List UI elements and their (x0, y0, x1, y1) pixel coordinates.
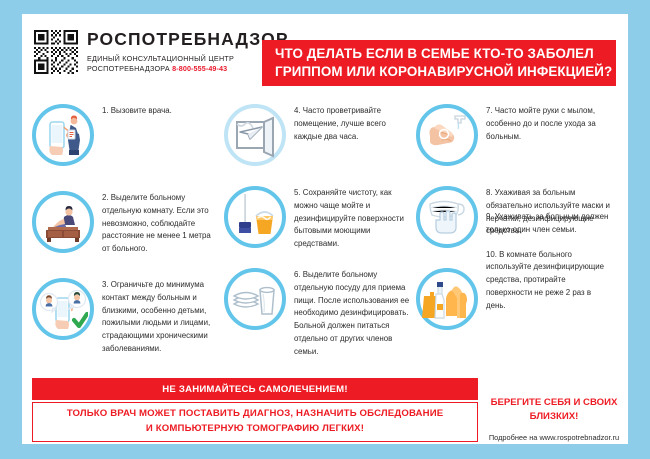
qr-code-icon (34, 30, 78, 74)
advice-text-9: 9. Ухаживать за больным должен только од… (486, 211, 612, 237)
advice-item-7: 7. Часто мойте руки с мылом, особенно до… (416, 104, 616, 166)
advice-text-10: 10. В комнате больного используйте дезин… (486, 249, 612, 313)
poster-card: РОСПОТРЕБНАДЗОР ЕДИНЫЙ КОНСУЛЬТАЦИОННЫЙ … (22, 14, 628, 444)
column-2: 4. Часто проветривайте помещение, лучше … (220, 96, 416, 366)
advice-text-6: 6. Выделите больному отдельную посуду дл… (294, 268, 412, 359)
advice-text-9-10: 9. Ухаживать за больным должен только од… (486, 268, 612, 330)
poster-header: РОСПОТРЕБНАДЗОР ЕДИНЫЙ КОНСУЛЬТАЦИОННЫЙ … (22, 14, 628, 88)
open-window-airflow-icon (224, 104, 286, 166)
brand-title: РОСПОТРЕБНАДЗОР (87, 31, 289, 49)
advice-columns: 1. Вызовите врача. (22, 96, 628, 366)
hotline-phone: 8-800-555-49-43 (172, 64, 227, 73)
consultation-center-label: РОСПОТРЕБНАДЗОРА (87, 64, 170, 73)
mask-and-gloves-icon (416, 186, 478, 248)
care-line-2: БЛИЗКИХ! (488, 410, 620, 424)
care-block: БЕРЕГИТЕ СЕБЯ И СВОИХ БЛИЗКИХ! Подробнее… (488, 396, 620, 442)
care-line-1: БЕРЕГИТЕ СЕБЯ И СВОИХ (488, 396, 620, 410)
advice-item-2: 2. Выделите больному отдельную комнату. … (32, 191, 220, 256)
website-info: Подробнее на www.rospotrebnadzor.ru (488, 433, 620, 442)
doctor-diagnosis-line-1: ТОЛЬКО ВРАЧ МОЖЕТ ПОСТАВИТЬ ДИАГНОЗ, НАЗ… (67, 407, 444, 422)
advice-text-1: 1. Вызовите врача. (102, 104, 220, 166)
consultation-center-line2: РОСПОТРЕБНАДЗОРА 8-800-555-49-43 (87, 64, 289, 74)
banner-line-1: ЧТО ДЕЛАТЬ ЕСЛИ В СЕМЬЕ КТО-ТО ЗАБОЛЕЛ (275, 45, 616, 63)
logo-block: РОСПОТРЕБНАДЗОР ЕДИНЫЙ КОНСУЛЬТАЦИОННЫЙ … (34, 30, 289, 74)
advice-item-9-10: 9. Ухаживать за больным должен только од… (416, 268, 616, 330)
advice-text-5: 5. Сохраняйте чистоту, как можно чаще мо… (294, 186, 412, 251)
logo-text-block: РОСПОТРЕБНАДЗОР ЕДИНЫЙ КОНСУЛЬТАЦИОННЫЙ … (87, 30, 289, 74)
advice-text-7: 7. Часто мойте руки с мылом, особенно до… (486, 104, 612, 166)
separate-dishes-icon (224, 268, 286, 330)
consultation-center-line1: ЕДИНЫЙ КОНСУЛЬТАЦИОННЫЙ ЦЕНТР (87, 54, 289, 64)
advice-item-1: 1. Вызовите врача. (32, 104, 220, 166)
doctor-diagnosis-box: ТОЛЬКО ВРАЧ МОЖЕТ ПОСТАВИТЬ ДИАГНОЗ, НАЗ… (32, 402, 478, 442)
title-banner: ЧТО ДЕЛАТЬ ЕСЛИ В СЕМЬЕ КТО-ТО ЗАБОЛЕЛ Г… (262, 40, 616, 86)
advice-text-2: 2. Выделите больному отдельную комнату. … (102, 191, 220, 256)
column-3: 7. Часто мойте руки с мылом, особенно до… (412, 96, 608, 366)
column-1: 1. Вызовите врача. (24, 96, 220, 366)
advice-item-5: 5. Сохраняйте чистоту, как можно чаще мо… (224, 186, 416, 251)
advice-text-4: 4. Часто проветривайте помещение, лучше … (294, 104, 412, 166)
advice-item-3: 3. Ограничьте до минимума контакт между … (32, 278, 220, 356)
no-self-medication-bar: НЕ ЗАНИМАЙТЕСЬ САМОЛЕЧЕНИЕМ! (32, 378, 478, 400)
advice-item-6: 6. Выделите больному отдельную посуду дл… (224, 268, 416, 359)
washing-hands-icon (416, 104, 478, 166)
person-on-sofa-icon (32, 191, 94, 253)
advice-item-4: 4. Часто проветривайте помещение, лучше … (224, 104, 416, 166)
doctor-phone-call-icon (32, 104, 94, 166)
mop-and-bucket-icon (224, 186, 286, 248)
disinfectant-bottles-icon (416, 268, 478, 330)
advice-text-3: 3. Ограничьте до минимума контакт между … (102, 278, 220, 356)
limit-contact-phone-icon (32, 278, 94, 340)
banner-line-2: ГРИППОМ ИЛИ КОРОНАВИРУСНОЙ ИНФЕКЦИЕЙ? (275, 63, 616, 81)
doctor-diagnosis-line-2: И КОМПЬЮТЕРНУЮ ТОМОГРАФИЮ ЛЕГКИХ! (146, 422, 364, 437)
